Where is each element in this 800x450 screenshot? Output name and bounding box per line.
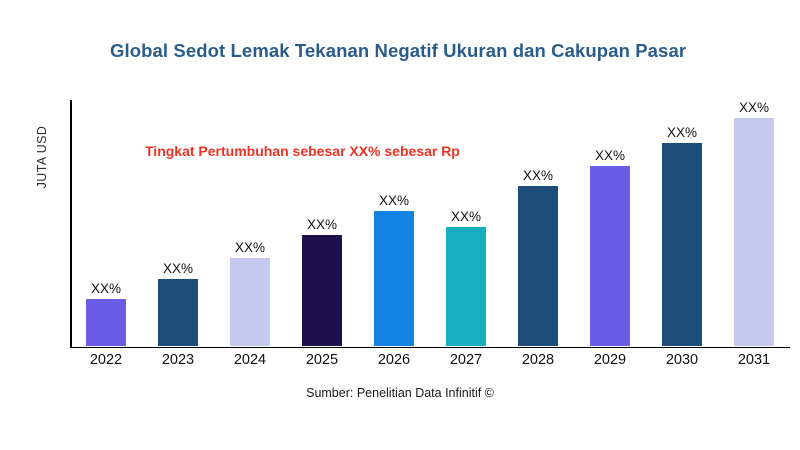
bar-value-label: XX% <box>142 261 214 276</box>
bar-2023[interactable] <box>158 279 198 347</box>
bar-2030[interactable] <box>662 143 702 347</box>
x-tick-2028: 2028 <box>502 352 574 368</box>
source-note: Sumber: Penelitian Data Infinitif © <box>0 386 800 400</box>
x-tick-2027: 2027 <box>430 352 502 368</box>
bar-2028[interactable] <box>518 186 558 346</box>
bar-2031[interactable] <box>734 118 774 347</box>
x-tick-2025: 2025 <box>286 352 358 368</box>
bar-value-label: XX% <box>286 217 358 232</box>
x-tick-2031: 2031 <box>718 352 790 368</box>
x-tick-2026: 2026 <box>358 352 430 368</box>
y-axis-label: JUTA USD <box>35 97 49 217</box>
chart-title: Global Sedot Lemak Tekanan Negatif Ukura… <box>110 41 686 61</box>
bar-2025[interactable] <box>302 235 342 346</box>
x-axis-tick-labels: 2022202320242025202620272028202920302031 <box>70 352 790 376</box>
bar-2022[interactable] <box>86 299 126 347</box>
plot-area: XX%XX%XX%XX%XX%XX%XX%XX%XX%XX% <box>70 100 790 348</box>
x-tick-2024: 2024 <box>214 352 286 368</box>
bar-2029[interactable] <box>590 166 630 347</box>
bar-2026[interactable] <box>374 211 414 346</box>
x-tick-2023: 2023 <box>142 352 214 368</box>
bar-value-label: XX% <box>358 193 430 208</box>
bar-value-label: XX% <box>502 168 574 183</box>
bar-value-label: XX% <box>646 125 718 140</box>
bar-value-label: XX% <box>574 148 646 163</box>
x-tick-2030: 2030 <box>646 352 718 368</box>
bars-layer: XX%XX%XX%XX%XX%XX%XX%XX%XX%XX% <box>70 100 790 348</box>
x-tick-2029: 2029 <box>574 352 646 368</box>
bar-2027[interactable] <box>446 227 486 346</box>
bar-chart: Global Sedot Lemak Tekanan Negatif Ukura… <box>0 0 800 450</box>
bar-2024[interactable] <box>230 258 270 346</box>
bar-value-label: XX% <box>718 100 790 115</box>
x-tick-2022: 2022 <box>70 352 142 368</box>
bar-value-label: XX% <box>214 240 286 255</box>
bar-value-label: XX% <box>70 281 142 296</box>
bar-value-label: XX% <box>430 209 502 224</box>
growth-rate-annotation: Tingkat Pertumbuhan sebesar XX% sebesar … <box>145 143 460 159</box>
